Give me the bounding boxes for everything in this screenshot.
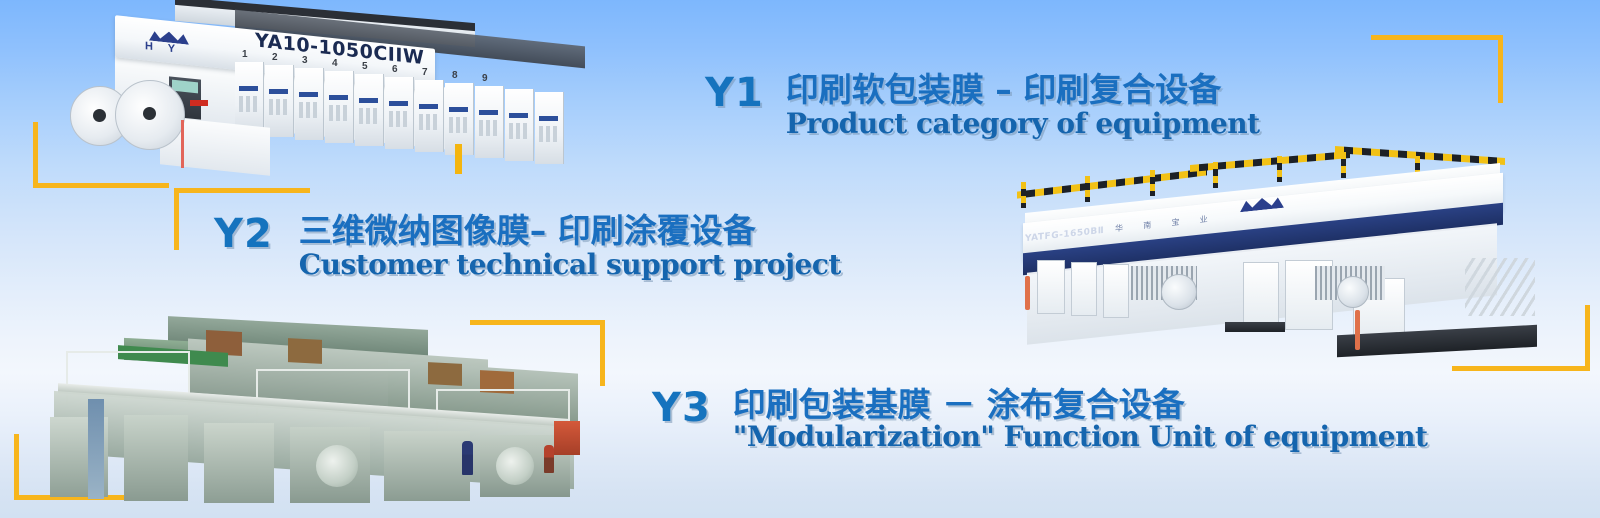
bracket-y3-vertical [600, 320, 605, 386]
machine-base-film-coating-line [28, 305, 588, 500]
coating-line-stand [204, 423, 274, 503]
coating-line-reel [496, 447, 534, 485]
row-y1: Y1 印刷软包装膜 – 印刷复合设备 Product category of e… [705, 72, 1260, 139]
coater-access-stair [1465, 258, 1535, 316]
bracket-topright-horizontal [1371, 35, 1503, 40]
print-unit: 4 [325, 71, 354, 143]
safety-rail [1335, 146, 1505, 165]
bracket-topleft-horizontal [33, 183, 169, 188]
row-y1-texts: 印刷软包装膜 – 印刷复合设备 Product category of equi… [786, 72, 1260, 139]
row-y3-english: "Modularization" Function Unit of equipm… [733, 422, 1428, 452]
print-unit: 2 [265, 65, 294, 137]
row-y2-english: Customer technical support project [299, 250, 841, 280]
coater-module [1103, 264, 1129, 318]
row-y3-texts: 印刷包装基膜 － 涂布复合设备 "Modularization" Functio… [733, 387, 1428, 452]
print-unit: 3 [295, 68, 324, 140]
print-unit-number: 5 [362, 61, 368, 72]
coating-line-blower [288, 338, 322, 364]
print-unit-number: 2 [272, 52, 278, 63]
print-unit: 9 [475, 86, 504, 158]
row-y2-texts: 三维微纳图像膜– 印刷涂覆设备 Customer technical suppo… [299, 213, 841, 280]
roll-hub [93, 109, 106, 122]
bracket-topleft-vertical [33, 122, 38, 188]
row-y1-english: Product category of equipment [786, 109, 1260, 139]
press-web-path-line [181, 120, 184, 168]
product-banner: H Y YA10-1050CIIW 1 2 3 4 5 6 7 8 9 [0, 0, 1600, 518]
coater-base-plinth [1225, 322, 1285, 332]
roll-hub [143, 107, 156, 120]
rail-post [1150, 170, 1155, 196]
print-unit: 7 [415, 80, 444, 152]
bracket-topright-vertical [1498, 35, 1503, 103]
coating-line-operator [544, 445, 554, 473]
print-unit: 1 [235, 62, 264, 134]
bracket-midright-vertical [1585, 305, 1590, 371]
print-unit-number: 9 [482, 73, 488, 84]
print-unit-number: 6 [392, 64, 398, 75]
coating-line-red-unit [554, 421, 580, 455]
rail-post [1085, 176, 1090, 202]
bracket-y2-horizontal [174, 188, 310, 193]
row-y1-chinese: 印刷软包装膜 – 印刷复合设备 [786, 72, 1260, 108]
coater-orange-hose [1025, 276, 1030, 310]
print-unit: 6 [385, 77, 414, 149]
coating-line-reel [316, 445, 358, 487]
press-red-marker [190, 100, 208, 106]
rail-post [1213, 162, 1218, 188]
coater-drum [1337, 276, 1369, 308]
row-y3: Y3 印刷包装基膜 － 涂布复合设备 "Modularization" Func… [652, 387, 1427, 452]
coater-drum [1161, 274, 1197, 310]
print-unit [505, 89, 534, 161]
rail-post [1341, 152, 1346, 178]
rail-post [1021, 182, 1026, 208]
coater-module [1243, 262, 1279, 326]
coating-line-operator [462, 441, 473, 475]
print-unit-number: 7 [422, 67, 428, 78]
row-y3-code: Y3 [652, 387, 711, 429]
machine-rotogravure-printing-press: H Y YA10-1050CIIW 1 2 3 4 5 6 7 8 9 [60, 2, 600, 170]
coating-line-stand [124, 415, 188, 501]
machine-dry-lamination-coater: YATFG-1650BⅡ 华 南 宝 业 [985, 150, 1545, 355]
coating-line-blower [428, 362, 462, 386]
coating-line-blue-web [88, 399, 104, 499]
coater-orange-hose [1355, 310, 1360, 350]
print-unit-number: 3 [302, 55, 308, 66]
bracket-bottomleft-vertical [14, 434, 19, 500]
bracket-y2-vertical [174, 188, 179, 250]
print-unit: 5 [355, 74, 384, 146]
print-unit-number: 4 [332, 58, 338, 69]
row-y1-code: Y1 [705, 72, 764, 114]
safety-rail [1017, 168, 1207, 198]
row-y3-chinese: 印刷包装基膜 － 涂布复合设备 [733, 387, 1428, 422]
print-unit [535, 92, 564, 164]
rail-post [1277, 156, 1282, 182]
coating-line-stand [384, 431, 470, 501]
coater-module [1071, 262, 1097, 316]
bracket-midright-horizontal [1452, 366, 1590, 371]
row-y2-chinese: 三维微纳图像膜– 印刷涂覆设备 [299, 213, 841, 249]
press-yellow-indicator [455, 144, 462, 174]
row-y2: Y2 三维微纳图像膜– 印刷涂覆设备 Customer technical su… [214, 213, 841, 280]
coater-module [1037, 260, 1065, 314]
press-print-units: 1 2 3 4 5 6 7 8 9 [235, 62, 580, 152]
print-unit-number: 1 [242, 49, 248, 60]
print-unit-number: 8 [452, 70, 458, 81]
row-y2-code: Y2 [214, 213, 273, 255]
